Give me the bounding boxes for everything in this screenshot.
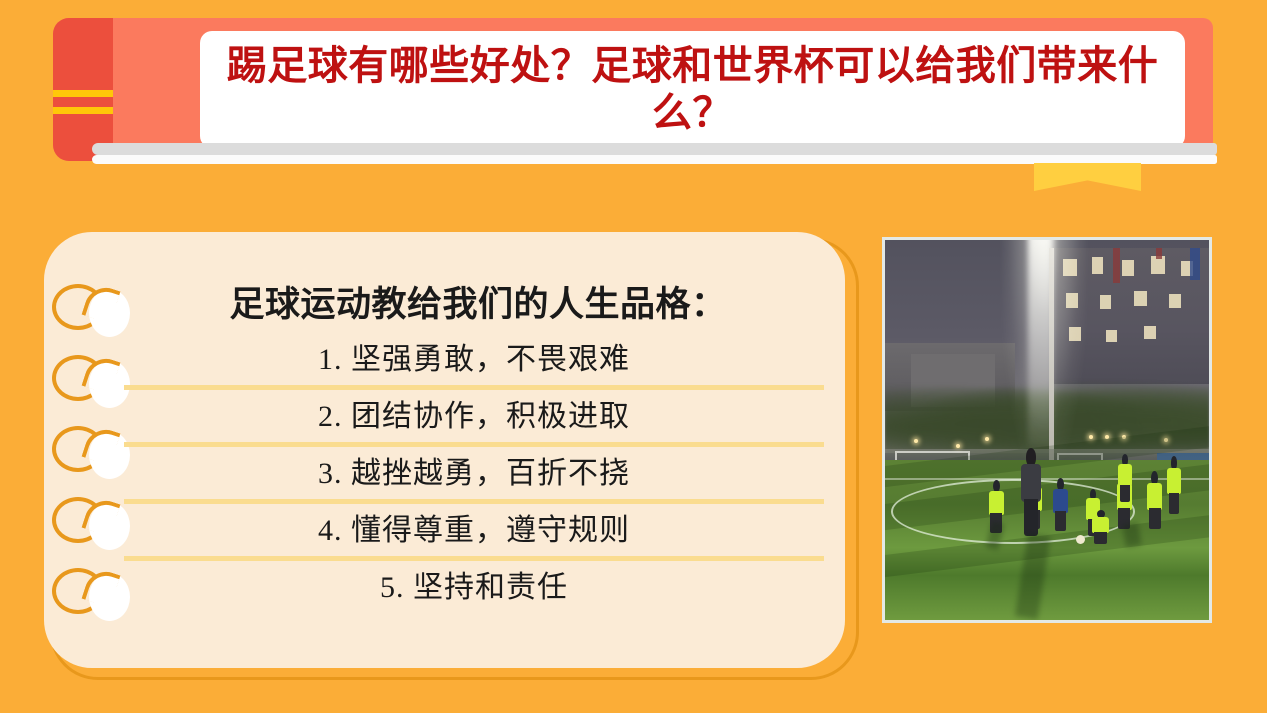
- list-item: 1. 坚强勇敢，不畏艰难: [124, 333, 824, 390]
- photo-player: [1053, 489, 1067, 531]
- page-layer-white: [92, 155, 1217, 164]
- photo-player: [1167, 468, 1181, 514]
- photo-player-crouching: [1092, 517, 1109, 544]
- title-panel: 踢足球有哪些好处？足球和世界杯可以给我们带来什么？: [200, 31, 1185, 148]
- list-item: 4. 懂得尊重，遵守规则: [124, 504, 824, 561]
- photo-player: [1147, 483, 1162, 529]
- book-spine-stripe-top: [53, 90, 113, 97]
- soccer-practice-photo: [882, 237, 1212, 623]
- book-spine-stripe-bottom: [53, 107, 113, 114]
- list-item: 3. 越挫越勇，百折不挠: [124, 447, 824, 504]
- page-title: 踢足球有哪些好处？足球和世界杯可以给我们带来什么？: [214, 43, 1171, 136]
- header-book-graphic: 踢足球有哪些好处？足球和世界杯可以给我们带来什么？: [53, 18, 1213, 163]
- character-list: 1. 坚强勇敢，不畏艰难 2. 团结协作，积极进取 3. 越挫越勇，百折不挠 4…: [124, 333, 824, 613]
- notebook-heading: 足球运动教给我们的人生品格：: [124, 276, 824, 327]
- photo-soccer-ball: [1076, 535, 1085, 544]
- notebook-card: 足球运动教给我们的人生品格： 1. 坚强勇敢，不畏艰难 2. 团结协作，积极进取…: [44, 232, 859, 680]
- book-spine: [53, 18, 113, 161]
- photo-floodlight-pole: [1049, 248, 1054, 461]
- notebook-card-content: 足球运动教给我们的人生品格： 1. 坚强勇敢，不畏艰难 2. 团结协作，积极进取…: [124, 258, 824, 650]
- photo-player: [1118, 464, 1132, 502]
- bookmark-ribbon-icon: [1034, 163, 1141, 191]
- page-layer-gray: [92, 143, 1217, 155]
- list-item: 5. 坚持和责任: [124, 561, 824, 613]
- photo-coach: [1021, 464, 1041, 536]
- slide-canvas: 踢足球有哪些好处？足球和世界杯可以给我们带来什么？: [0, 0, 1267, 713]
- photo-pitch-line: [885, 478, 1209, 480]
- list-item: 2. 团结协作，积极进取: [124, 390, 824, 447]
- photo-player-shadow: [1122, 522, 1142, 547]
